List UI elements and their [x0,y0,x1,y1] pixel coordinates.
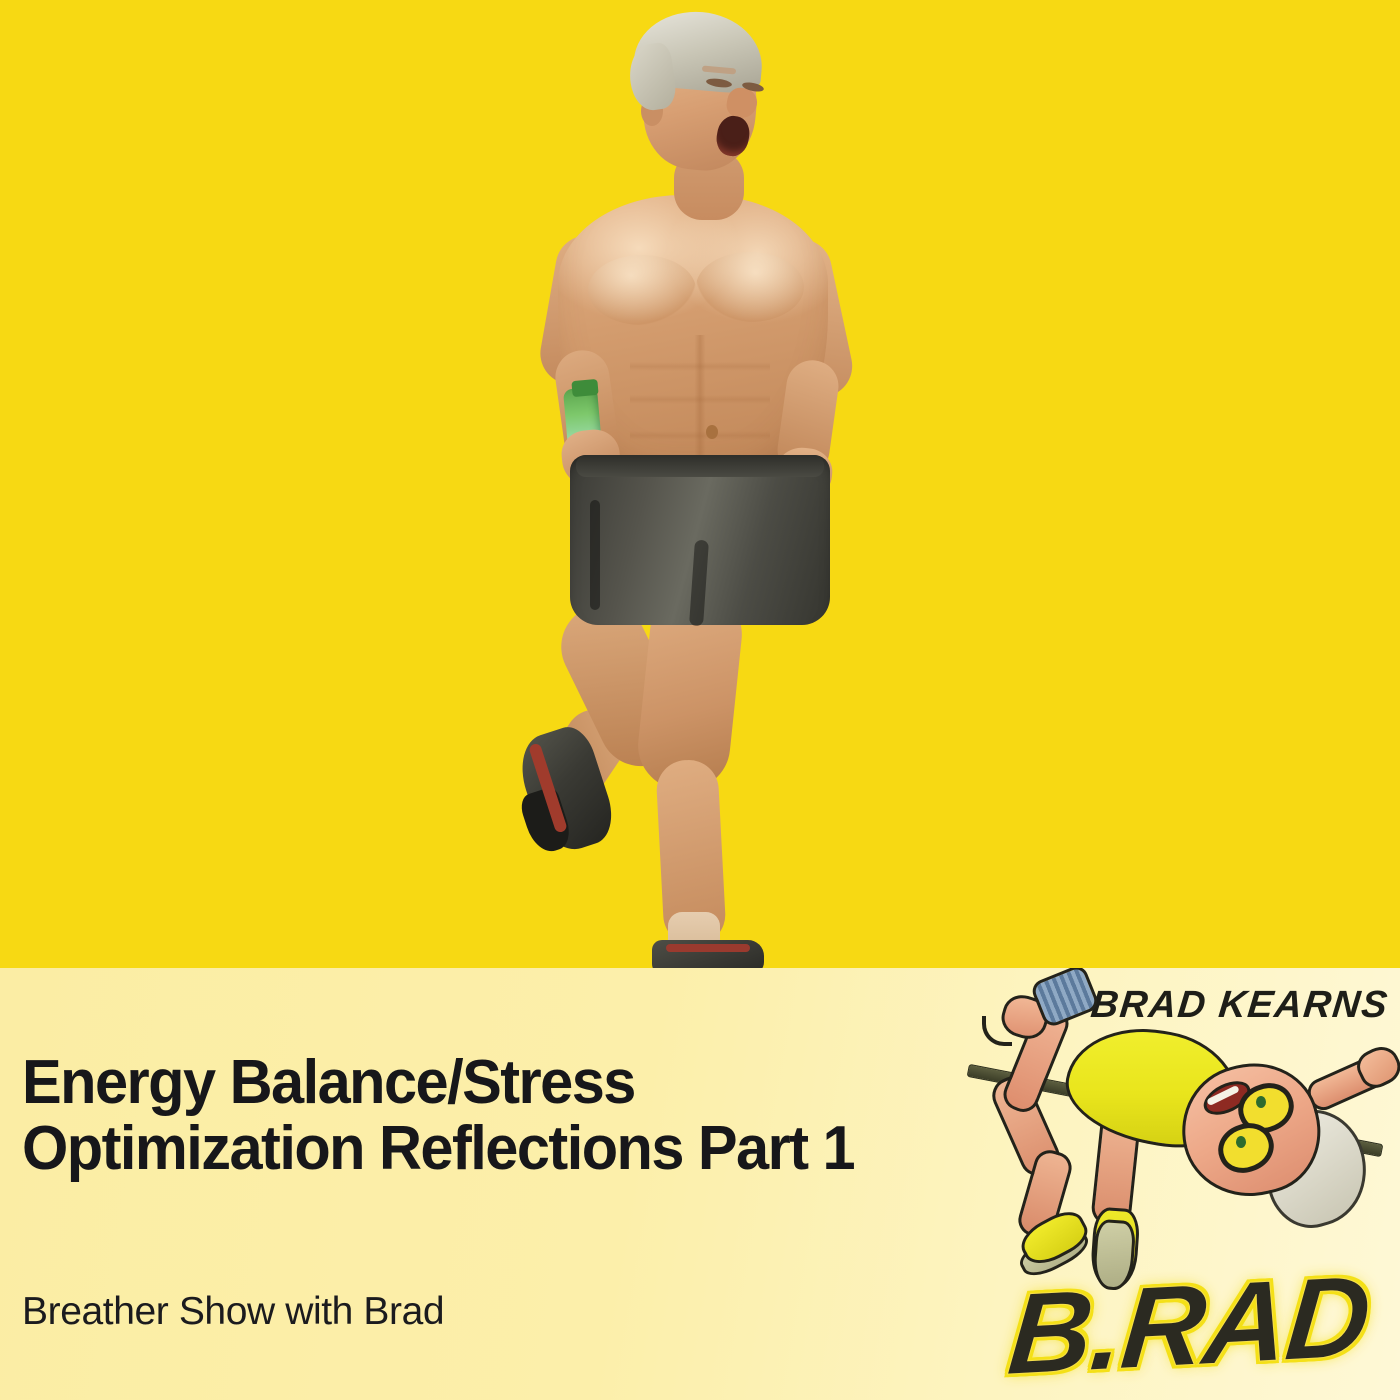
brad-kearns-logo[interactable]: BRAD KEARNS B.RAD [954,970,1394,1398]
runner-left-pec [588,255,696,325]
episode-subtitle: Breather Show with Brad [22,1290,444,1334]
runner-photo [430,0,970,968]
running-shorts-waistband [576,455,824,477]
hero-photo-panel [0,0,1400,968]
title-block: Energy Balance/Stress Optimization Refle… [22,1050,922,1181]
water-bottle-cap [571,379,598,397]
info-band: Energy Balance/Stress Optimization Refle… [0,968,1400,1400]
podcast-cover-art: Energy Balance/Stress Optimization Refle… [0,0,1400,1400]
episode-title: Energy Balance/Stress Optimization Refle… [22,1050,886,1181]
jumper-eye-right [1256,1096,1266,1108]
runner-right-pec [696,252,804,322]
runner-front-shoe-red-accent [666,944,750,952]
runner-navel [706,425,718,439]
running-shorts-side-slit [590,500,600,610]
jumper-eye-left [1236,1136,1246,1148]
brad-wordmark: B.RAD [1003,1249,1374,1400]
host-name-label: BRAD KEARNS [1088,984,1390,1027]
